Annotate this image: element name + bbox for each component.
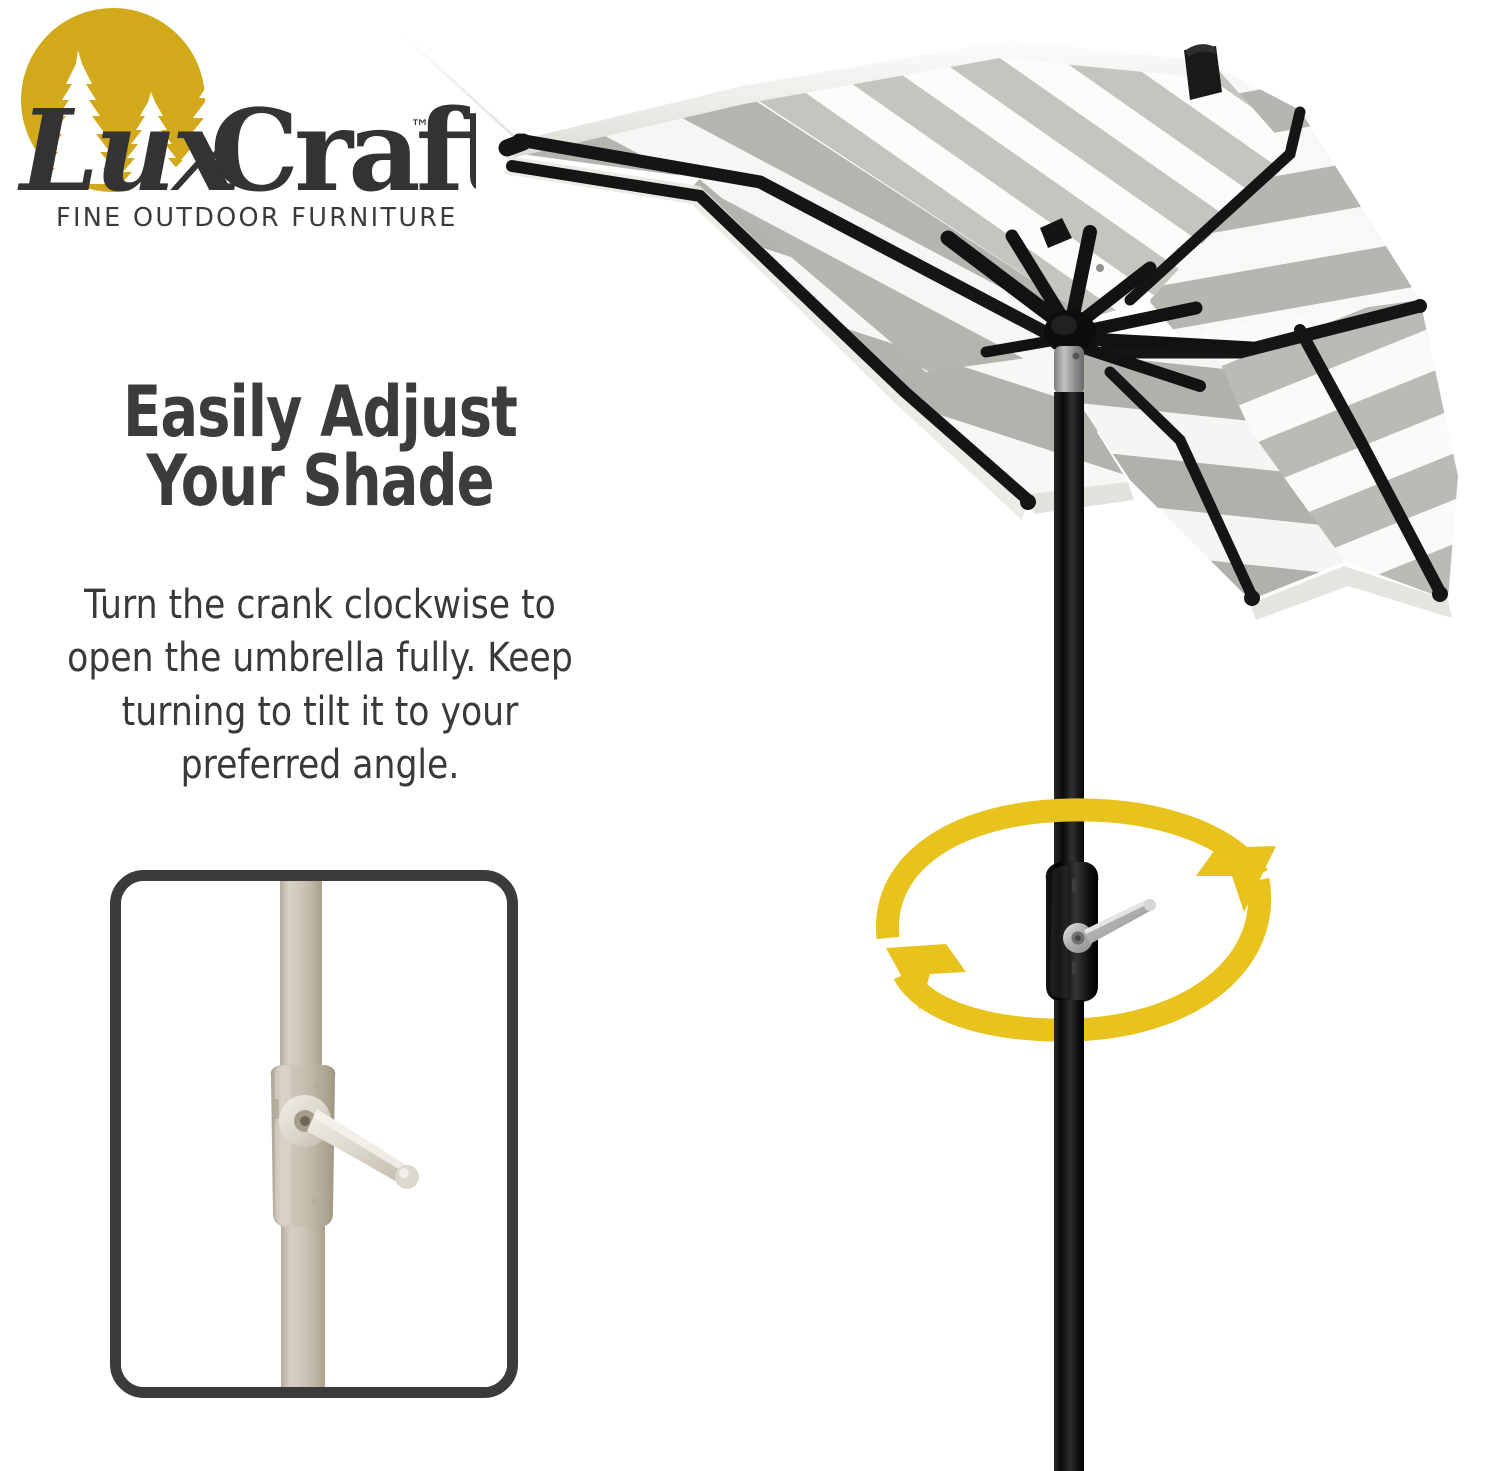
wordmark: Lux Craft: [17, 86, 476, 217]
page-title: Easily Adjust Your Shade: [64, 378, 576, 515]
rotation-arrows: [886, 810, 1276, 1030]
feature-description: Turn the crank clockwise to open the umb…: [46, 578, 593, 792]
crank-housing: [1046, 862, 1098, 1002]
inset-lower-pole: [281, 1221, 325, 1387]
crank-handle: [1063, 899, 1156, 953]
umbrella-ribs: [507, 112, 1448, 606]
inset-upper-pole: [280, 881, 322, 1077]
upper-pole-segment: [1054, 392, 1084, 862]
svg-text:Craft: Craft: [210, 86, 476, 217]
product-feature-graphic: Lux Craft ™ FINE OUTDOOR FURNITURE Easil…: [0, 0, 1500, 1471]
trademark-symbol: ™: [410, 115, 430, 139]
logo-tagline: FINE OUTDOOR FURNITURE: [56, 203, 458, 233]
canopy-hem: [396, 34, 1452, 620]
luxcraft-logo: Lux Craft ™ FINE OUTDOOR FURNITURE: [6, 8, 476, 243]
umbrella-pole: [1054, 330, 1084, 1471]
canopy-hub: [948, 218, 1252, 386]
canopy-finial: [1184, 44, 1222, 100]
svg-text:Lux: Lux: [17, 86, 240, 217]
umbrella-canopy: [505, 46, 1458, 600]
lower-pole-segment: [1054, 1000, 1084, 1471]
tilt-joint-collar: [1054, 346, 1084, 394]
crank-closeup-photo: [110, 870, 518, 1398]
